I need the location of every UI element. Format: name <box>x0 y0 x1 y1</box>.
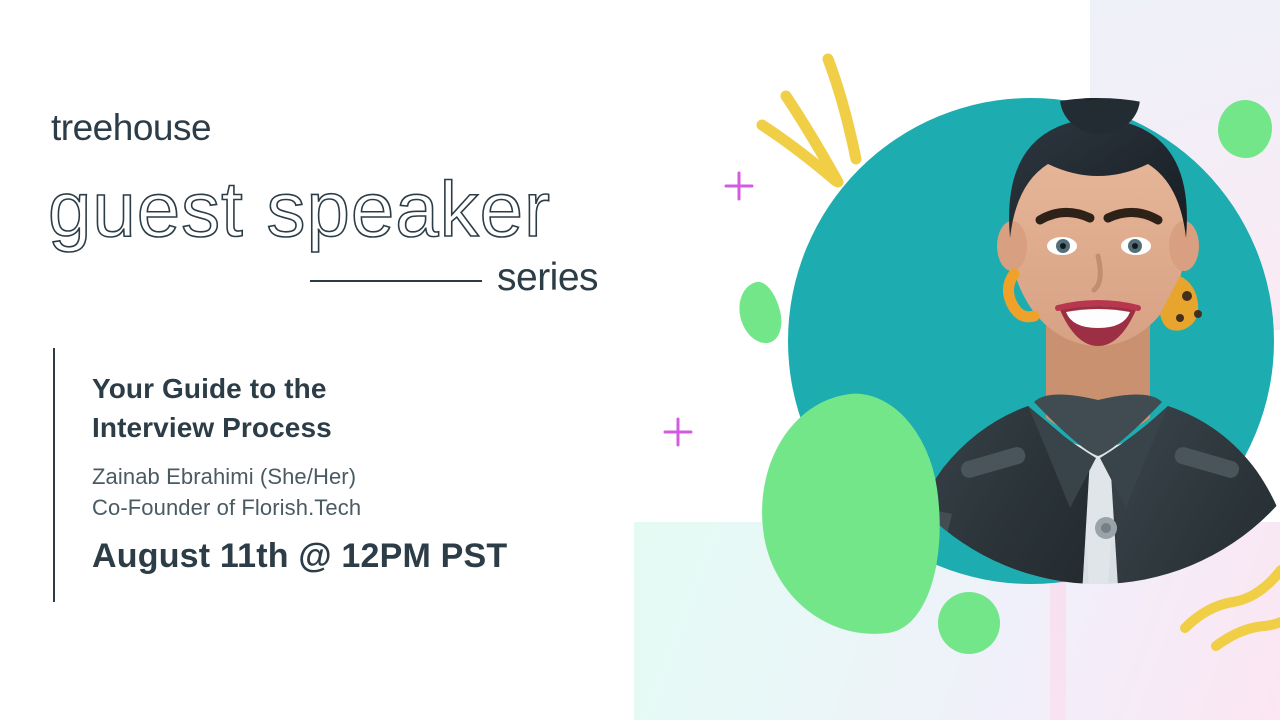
green-circle-bottom <box>938 592 1000 654</box>
event-datetime: August 11th @ 12PM PST <box>92 538 507 575</box>
event-title-line2: Interview Process <box>92 409 522 448</box>
green-circle-top-right <box>1218 100 1272 158</box>
headline-guest-speaker: guest speaker <box>36 160 656 260</box>
speaker-info: Zainab Ebrahimi (She/Her) Co-Founder of … <box>92 461 562 523</box>
speaker-role: Co-Founder of Florish.Tech <box>92 492 562 523</box>
vertical-accent-rule <box>53 348 55 602</box>
event-title-line1: Your Guide to the <box>92 370 522 409</box>
series-divider-line <box>310 280 482 282</box>
promo-slide: treehouse guest speaker series Your Guid… <box>0 0 1280 720</box>
series-label: series <box>497 258 598 297</box>
brand-wordmark: treehouse <box>51 109 211 146</box>
headline-outline-svg: guest speaker <box>36 160 656 260</box>
green-blob-small <box>733 278 787 348</box>
speaker-name: Zainab Ebrahimi (She/Her) <box>92 461 562 492</box>
svg-text:guest speaker: guest speaker <box>48 165 551 253</box>
event-title: Your Guide to the Interview Process <box>92 370 522 447</box>
